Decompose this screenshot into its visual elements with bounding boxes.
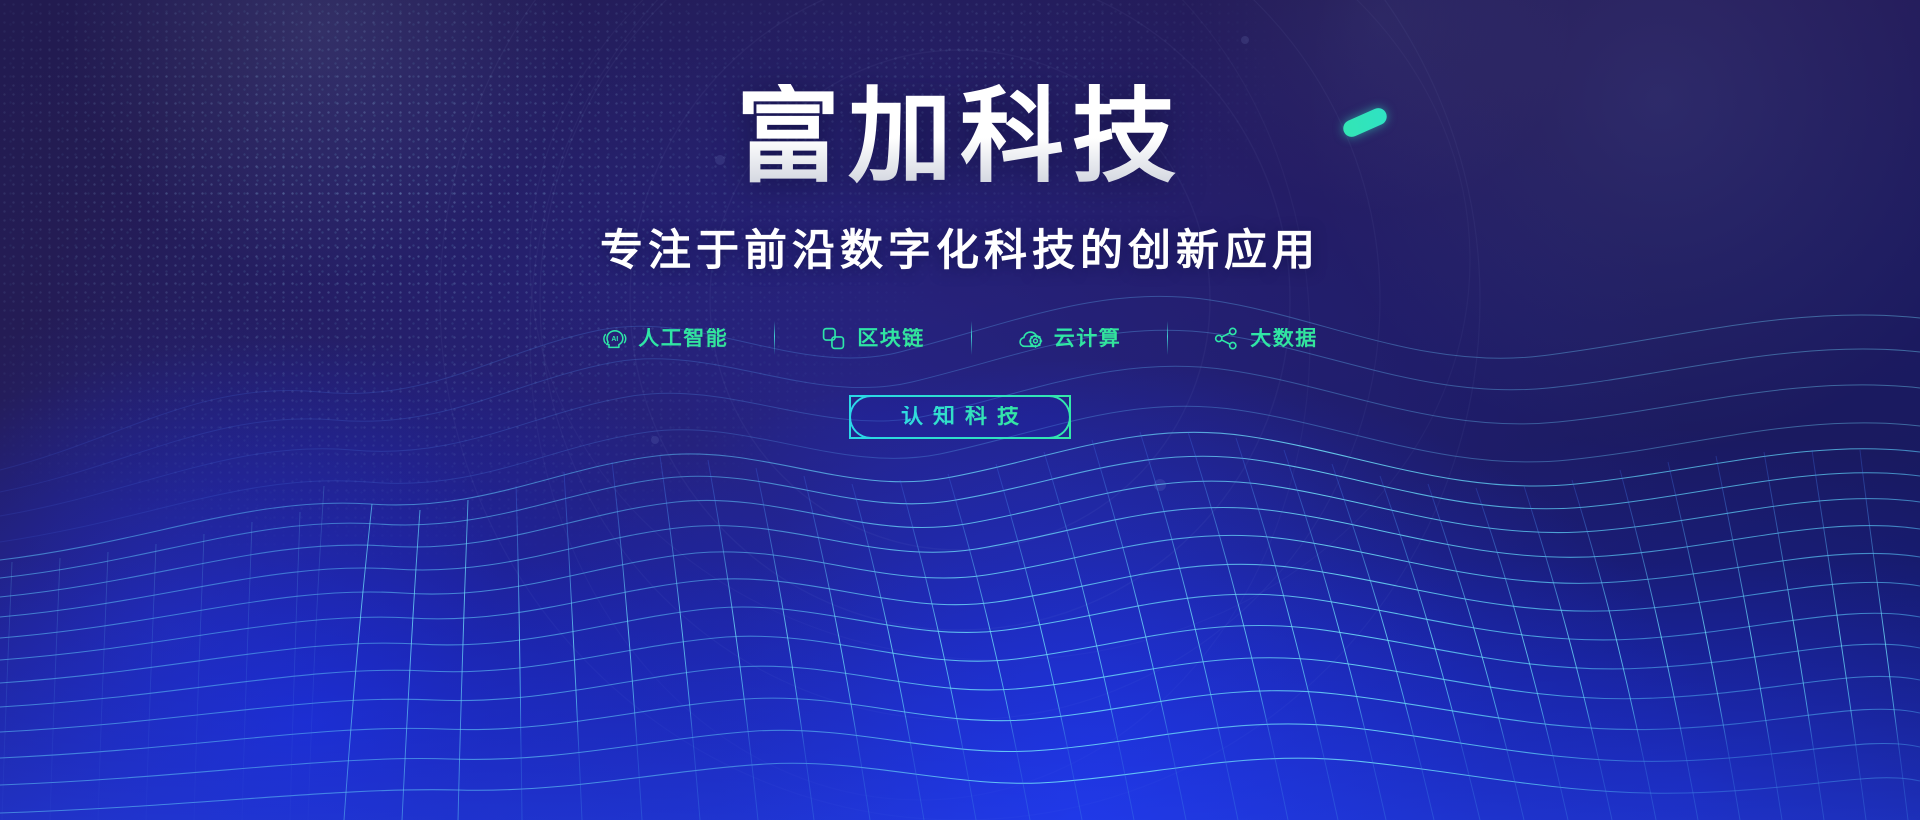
hero-subtitle: 专注于前沿数字化科技的创新应用 — [600, 230, 1320, 273]
share-nodes-icon — [1214, 326, 1239, 351]
feature-tag-label: 人工智能 — [638, 328, 728, 349]
feature-tag-label: 区块链 — [857, 328, 925, 349]
svg-text:AI: AI — [612, 336, 619, 343]
feature-tag-ai[interactable]: AI 人工智能 — [556, 326, 774, 351]
logo-accent-stroke — [1341, 105, 1390, 139]
hero-content: 富加科技 专注于前沿数字化科技的创新应用 AI 人工智能 — [0, 0, 1920, 820]
brand-logo: 富加科技 — [736, 84, 1184, 204]
hero-banner: 富加科技 专注于前沿数字化科技的创新应用 AI 人工智能 — [0, 0, 1920, 820]
feature-tag-list: AI 人工智能 区块链 — [556, 321, 1364, 355]
cta-button-label: 认知科技 — [891, 406, 1029, 428]
feature-tag-bigdata[interactable]: 大数据 — [1168, 326, 1364, 351]
feature-tag-label: 云计算 — [1054, 328, 1122, 349]
feature-tag-blockchain[interactable]: 区块链 — [775, 326, 971, 351]
cloud-gear-icon — [1018, 326, 1043, 351]
feature-tag-cloud[interactable]: 云计算 — [972, 326, 1168, 351]
cta-button[interactable]: 认知科技 — [849, 395, 1071, 439]
ai-head-icon: AI — [602, 326, 627, 351]
blockchain-blocks-icon — [821, 326, 846, 351]
feature-tag-label: 大数据 — [1250, 328, 1318, 349]
logo-text: 富加科技 — [736, 84, 1184, 188]
